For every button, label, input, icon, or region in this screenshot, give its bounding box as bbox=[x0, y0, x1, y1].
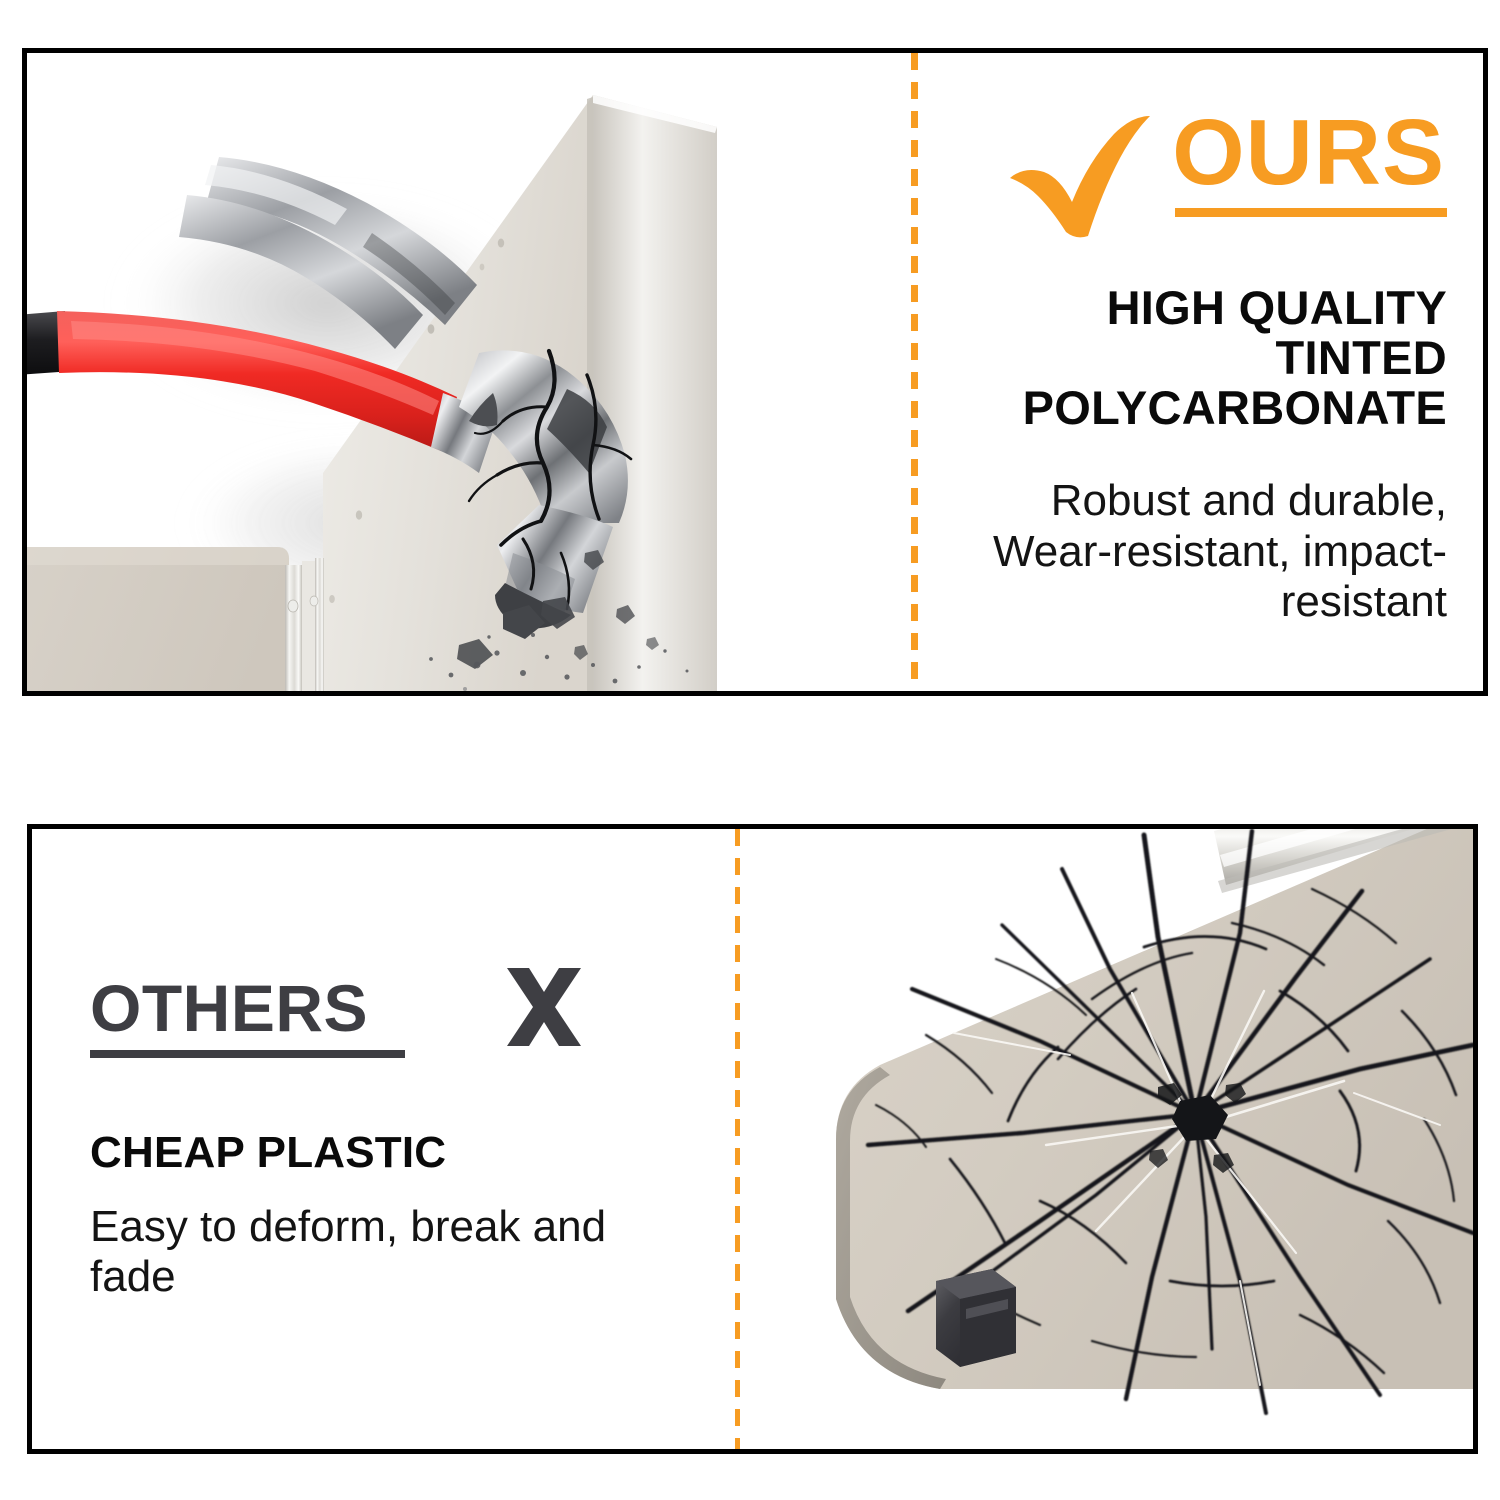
shattered-panel-photo bbox=[740, 829, 1473, 1449]
ours-text-column: OURS HIGH QUALITY TINTED POLYCARBONATE R… bbox=[932, 53, 1455, 691]
hammer-impact-photo bbox=[27, 53, 917, 691]
ours-subtitle: HIGH QUALITY TINTED POLYCARBONATE bbox=[952, 283, 1447, 432]
ours-title-block: OURS bbox=[1172, 108, 1447, 217]
ours-panel: OURS HIGH QUALITY TINTED POLYCARBONATE R… bbox=[22, 48, 1488, 696]
others-title: OTHERS bbox=[90, 975, 405, 1041]
panel-divider-ours bbox=[911, 53, 918, 691]
others-heading-row: OTHERS bbox=[90, 964, 712, 1068]
others-title-underline bbox=[90, 1050, 405, 1058]
ours-heading-row: OURS bbox=[952, 108, 1447, 239]
ours-title-underline bbox=[1175, 208, 1447, 217]
others-subtitle: CHEAP PLASTIC bbox=[90, 1130, 712, 1176]
others-text-column: OTHERS CHEAP PLASTIC Easy to deform, bre… bbox=[32, 829, 732, 1449]
others-title-block: OTHERS bbox=[90, 975, 405, 1058]
cross-mark-icon bbox=[501, 964, 587, 1050]
check-mark-icon bbox=[1004, 114, 1154, 239]
ours-description: Robust and durable, Wear-resistant, impa… bbox=[952, 476, 1447, 626]
others-description: Easy to deform, break and fade bbox=[90, 1202, 650, 1302]
ours-title: OURS bbox=[1172, 108, 1447, 196]
others-panel: OTHERS CHEAP PLASTIC Easy to deform, bre… bbox=[27, 824, 1478, 1454]
